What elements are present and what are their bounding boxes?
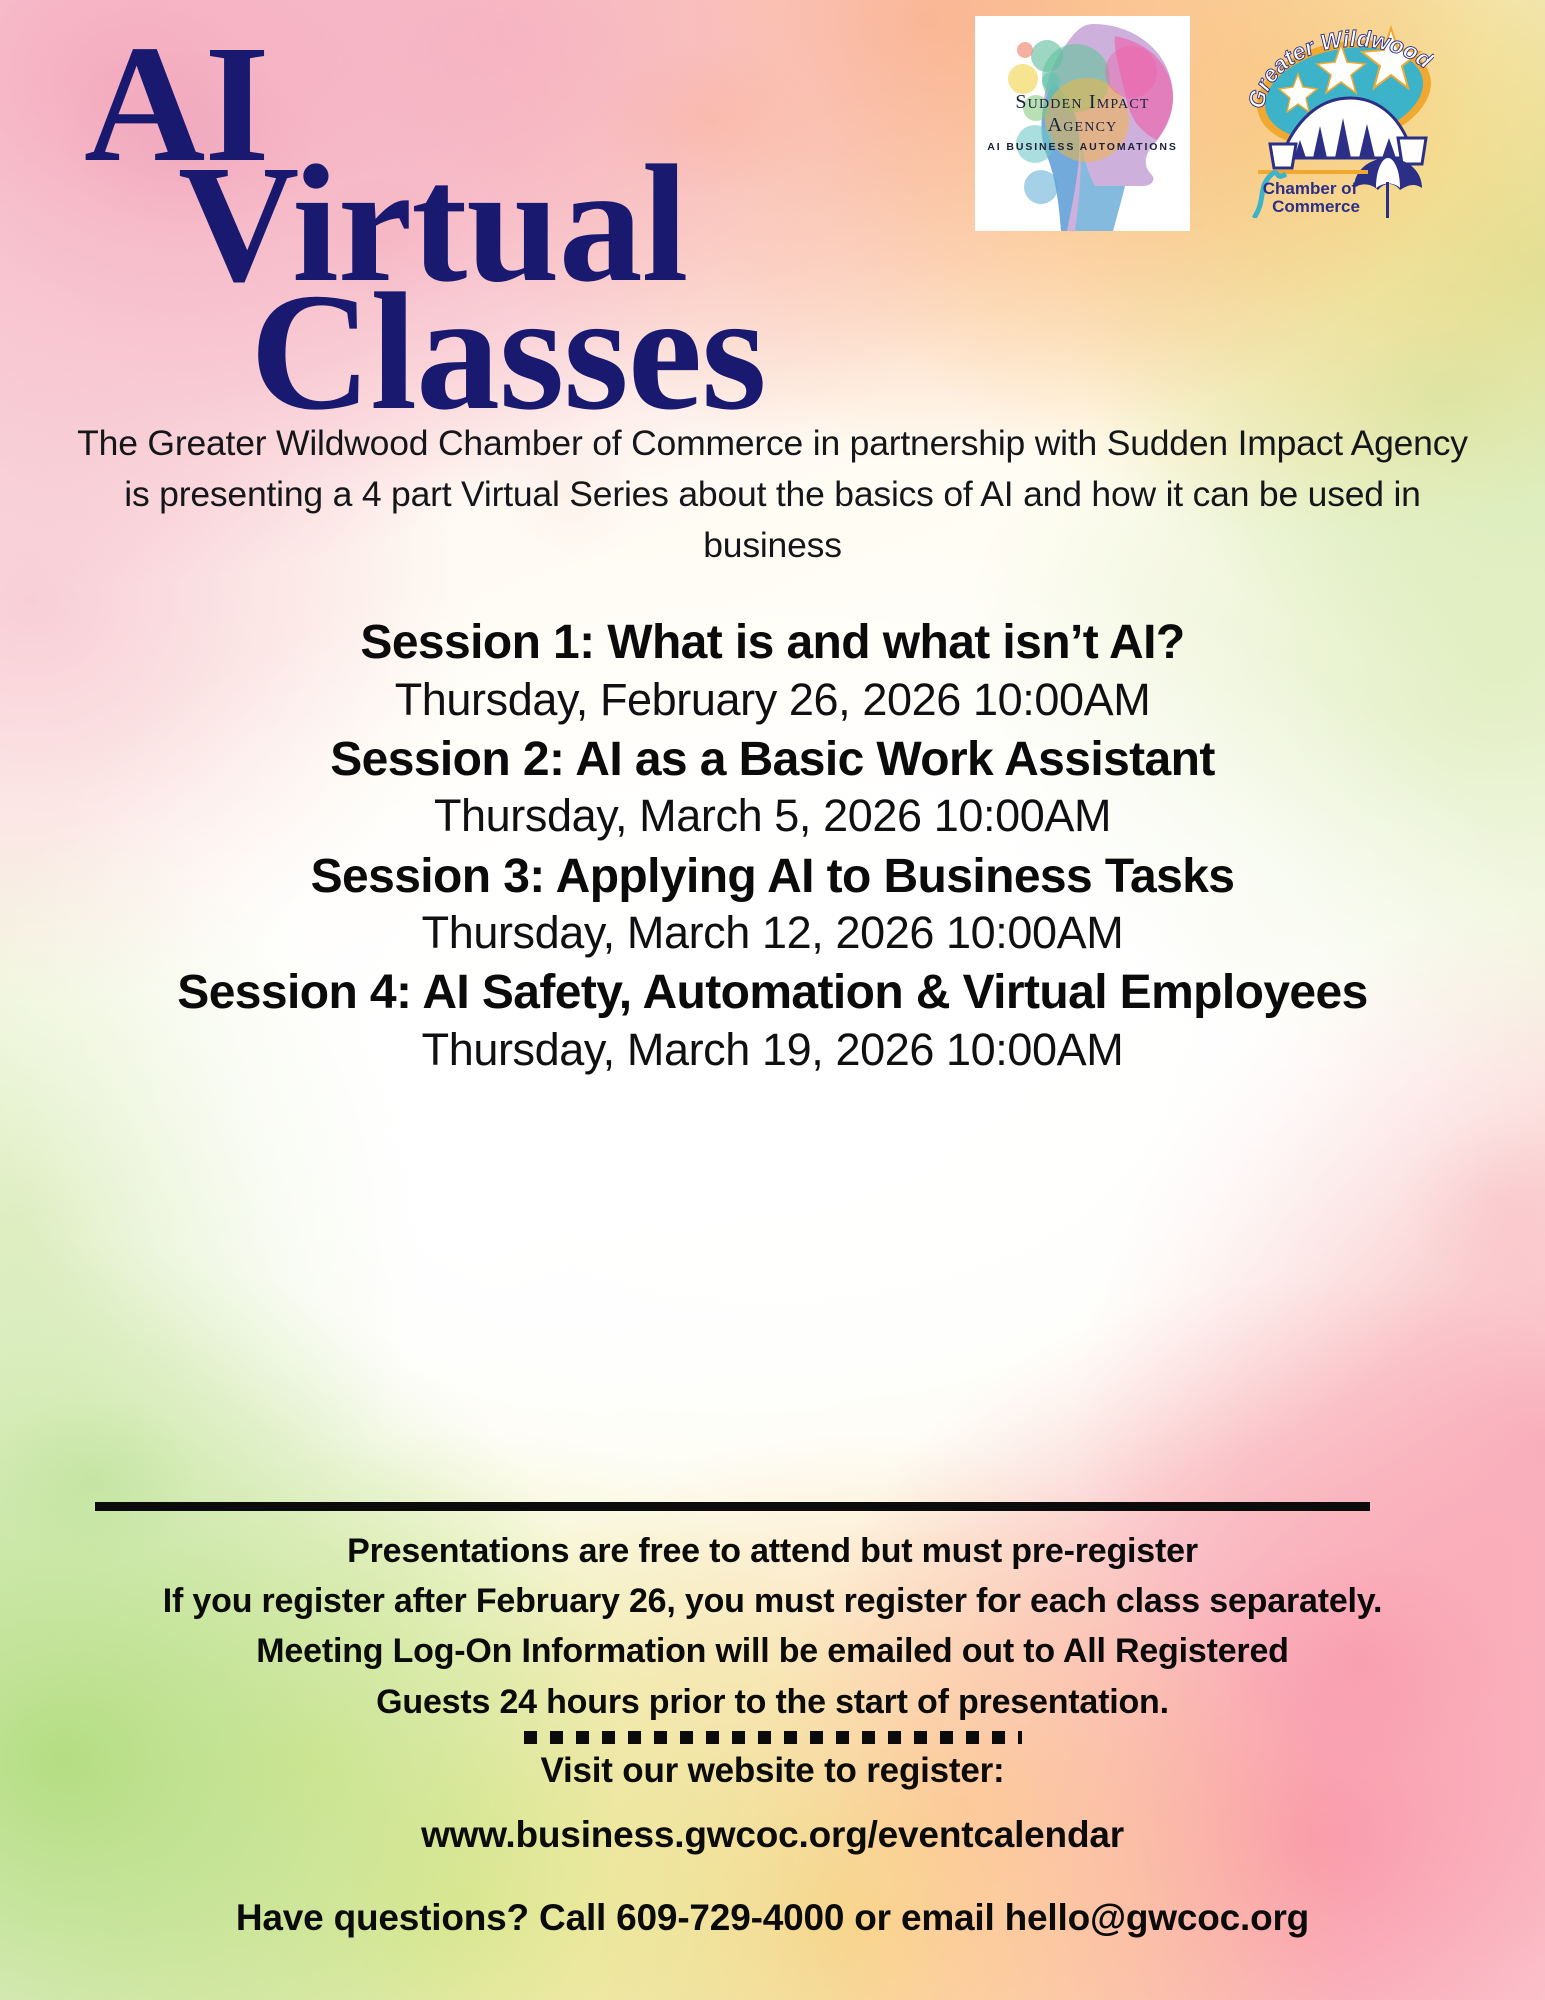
sia-logo-tagline: AI BUSINESS AUTOMATIONS xyxy=(975,142,1190,153)
visit-website-label: Visit our website to register: xyxy=(40,1748,1505,1794)
registration-line-1: Presentations are free to attend but mus… xyxy=(40,1528,1505,1574)
session-item: Session 3: Applying AI to Business Tasks… xyxy=(40,849,1505,960)
session-title: Session 2: AI as a Basic Work Assistant xyxy=(40,732,1505,788)
registration-line-3: Meeting Log-On Information will be email… xyxy=(40,1628,1505,1674)
sia-logo-line1: Sudden Impact xyxy=(975,92,1190,113)
greater-wildwood-chamber-logo: Greater Wildwood xyxy=(1248,22,1434,218)
session-date: Thursday, March 12, 2026 10:00AM xyxy=(40,906,1505,959)
flyer-page: Sudden Impact Agency AI BUSINESS AUTOMAT… xyxy=(0,0,1545,2000)
session-item: Session 4: AI Safety, Automation & Virtu… xyxy=(40,965,1505,1076)
gwcoc-logo-graphic: Greater Wildwood xyxy=(1248,22,1434,218)
session-title: Session 3: Applying AI to Business Tasks xyxy=(40,849,1505,905)
sudden-impact-agency-logo: Sudden Impact Agency AI BUSINESS AUTOMAT… xyxy=(975,16,1190,231)
contact-line: Have questions? Call 609-729-4000 or ema… xyxy=(40,1894,1505,1942)
session-date: Thursday, February 26, 2026 10:00AM xyxy=(40,673,1505,726)
sia-logo-line2: Agency xyxy=(975,115,1190,136)
gwcoc-sub-line2: Commerce xyxy=(1272,197,1360,216)
session-date: Thursday, March 5, 2026 10:00AM xyxy=(40,789,1505,842)
session-title: Session 4: AI Safety, Automation & Virtu… xyxy=(40,965,1505,1021)
session-list: Session 1: What is and what isn’t AI? Th… xyxy=(40,615,1505,1082)
session-item: Session 1: What is and what isn’t AI? Th… xyxy=(40,615,1505,726)
section-divider-rule xyxy=(95,1502,1370,1511)
registration-line-2: If you register after February 26, you m… xyxy=(40,1578,1505,1624)
registration-info: Presentations are free to attend but mus… xyxy=(40,1528,1505,1942)
intro-paragraph: The Greater Wildwood Chamber of Commerce… xyxy=(60,418,1485,571)
session-title: Session 1: What is and what isn’t AI? xyxy=(40,615,1505,671)
session-item: Session 2: AI as a Basic Work Assistant … xyxy=(40,732,1505,843)
registration-url[interactable]: www.business.gwcoc.org/eventcalendar xyxy=(40,1811,1505,1859)
dotted-divider xyxy=(524,1731,1022,1744)
gwcoc-sub-line1: Chamber of xyxy=(1263,179,1358,198)
registration-line-4: Guests 24 hours prior to the start of pr… xyxy=(40,1679,1505,1725)
session-date: Thursday, March 19, 2026 10:00AM xyxy=(40,1023,1505,1076)
title-line-classes: Classes xyxy=(250,280,766,424)
